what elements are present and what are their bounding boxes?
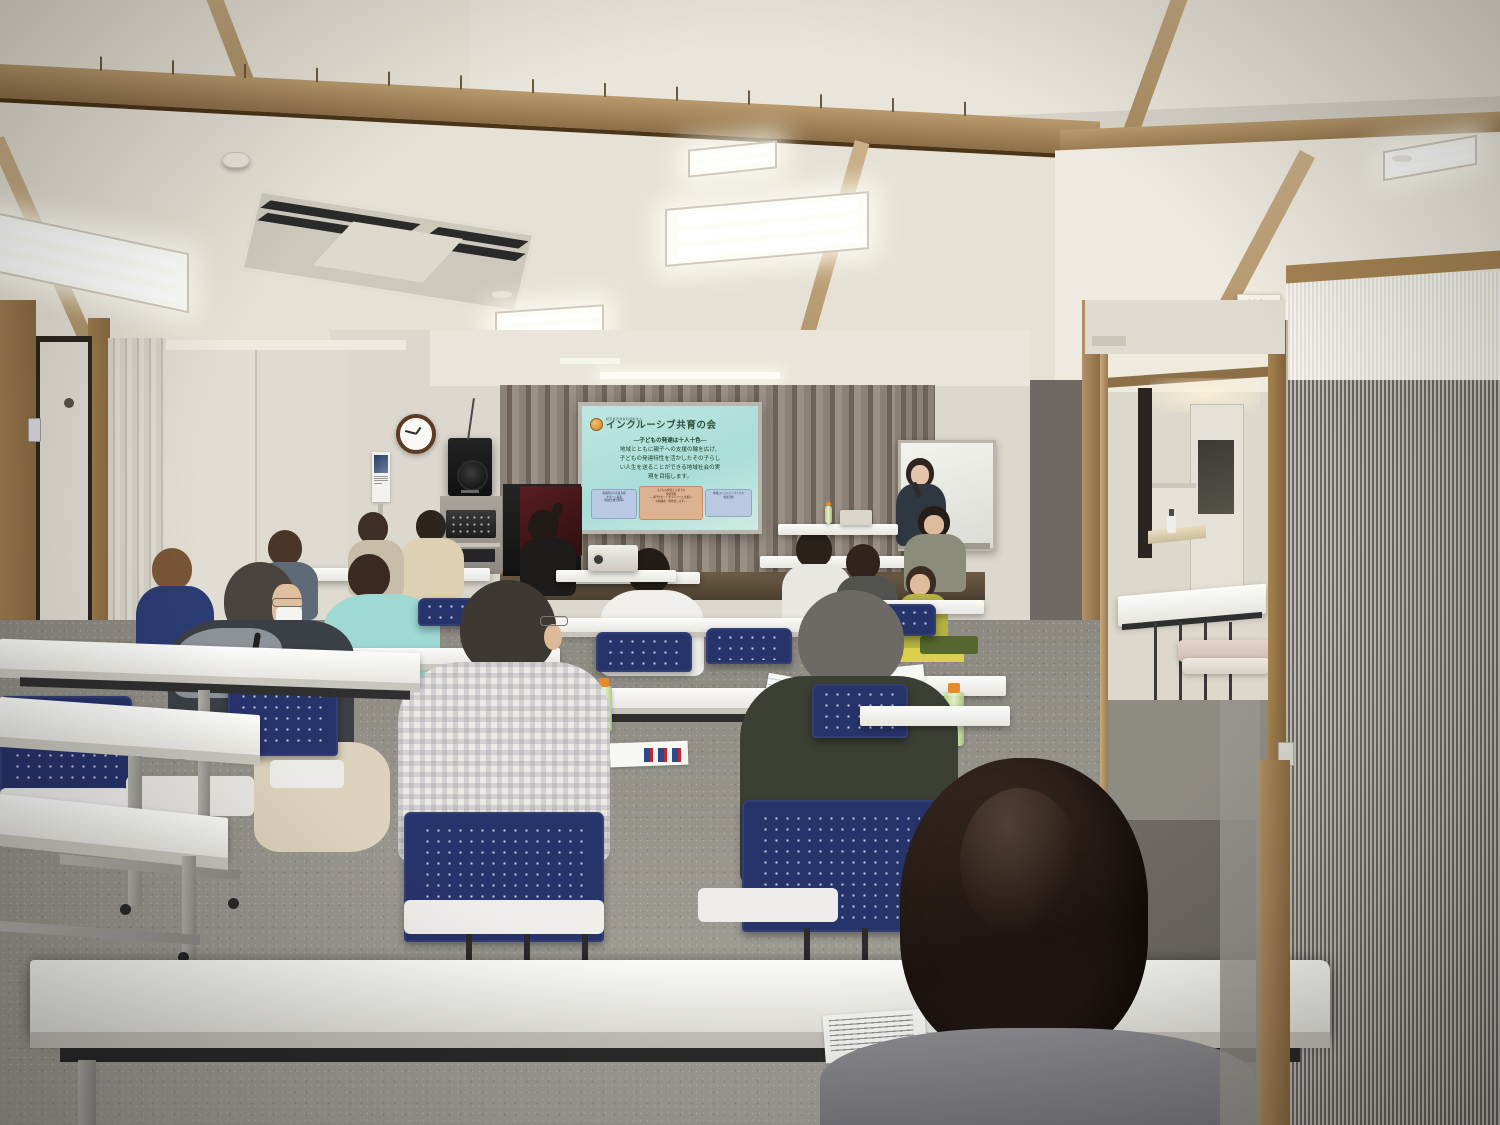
slide-box-2: 地域コミュニティづくりの 交流活動 xyxy=(705,489,752,517)
sanitizer-pump xyxy=(1169,509,1174,516)
head xyxy=(796,530,832,568)
presenter-laptop xyxy=(840,510,872,525)
door-peephole-icon xyxy=(64,398,74,408)
speaker-cone xyxy=(457,460,488,491)
presenter-table xyxy=(778,524,898,535)
head-skin xyxy=(814,600,888,660)
table-caster-2 xyxy=(120,904,131,915)
ceiling-smoke-detector xyxy=(222,152,250,168)
torso xyxy=(400,538,464,598)
entrance-door[interactable] xyxy=(40,342,88,664)
poster-image xyxy=(374,455,388,473)
slide-box-1: 子どもの発達と子育ての 啓発活動 ―専門サポートをメンバーと主催の 公開講座・研… xyxy=(639,486,703,520)
audio-mixer xyxy=(446,510,496,538)
face xyxy=(924,515,944,535)
slide-body-line-3: 現を目指します。 xyxy=(590,473,750,482)
right-door-jamb-foreground xyxy=(1256,760,1290,1125)
projector-lens-icon xyxy=(592,553,605,566)
slide-box-0: 発達障がい児者支援 サポート事業 （相談支援活動等） xyxy=(591,489,637,519)
stacked-floor-cushions-2 xyxy=(1182,658,1270,674)
green-floor-mat xyxy=(920,636,978,654)
bottle-cap xyxy=(826,502,831,506)
wall-poster xyxy=(372,452,390,502)
hair-highlight xyxy=(960,788,1080,938)
ear xyxy=(544,624,562,650)
bottle-cap-2 xyxy=(948,683,960,693)
right-room-door-glass xyxy=(1198,440,1234,514)
slide-headline: ―子どもの発達は十人十色― xyxy=(592,437,748,446)
ceiling-spot-light-2 xyxy=(1392,155,1412,162)
speaker-brand-label xyxy=(461,490,479,493)
projection-screen: 認定特定非営利活動法人 インクルーシブ共育の会 ―子どもの発達は十人十色― 地域… xyxy=(578,402,762,534)
right-jamb-shadow xyxy=(1220,700,1260,1125)
tea-bottle-presenter-table xyxy=(825,506,832,524)
seminar-room-photo: 認定特定非営利活動法人 インクルーシブ共育の会 ―子どもの発達は十人十色― 地域… xyxy=(0,0,1500,1125)
handout-graphic-1 xyxy=(644,748,686,762)
legs-beige-pants xyxy=(254,742,390,852)
ceiling-spot-light-1 xyxy=(492,291,512,298)
torso-grey-sweater xyxy=(820,1028,1256,1125)
table-left-3-leg xyxy=(182,856,196,966)
pa-speaker xyxy=(448,438,492,496)
slide-content: 認定特定非営利活動法人 インクルーシブ共育の会 ―子どもの発達は十人十色― 地域… xyxy=(582,406,758,530)
table-right-mid xyxy=(860,706,1010,726)
slide-body-line-2: い人生を送ることができる地域社会の実 xyxy=(590,464,750,473)
eyeglasses-icon xyxy=(540,616,568,626)
left-wooden-pillar xyxy=(0,300,36,660)
table-caster-1 xyxy=(228,898,239,909)
face xyxy=(910,574,930,595)
chair-seat-cover-2 xyxy=(698,888,838,922)
chair-seat-cover-1 xyxy=(404,900,604,934)
right-upper-wall-label xyxy=(1092,336,1126,346)
hand-sanitizer-bottle xyxy=(1167,515,1176,533)
head xyxy=(348,554,390,598)
door-card-reader[interactable] xyxy=(28,418,41,442)
analog-wall-clock xyxy=(396,414,436,454)
head xyxy=(846,544,880,580)
chair-mid-1 xyxy=(596,632,692,672)
ceiling-free-projector xyxy=(588,545,638,571)
eyeglasses-icon xyxy=(272,598,304,607)
clock-hand-minute xyxy=(405,430,416,434)
partition-top-rail xyxy=(166,340,406,350)
far-ceiling-light-strip-2 xyxy=(560,358,620,364)
far-ceiling-light-strip xyxy=(600,372,780,379)
projector-table xyxy=(556,570,676,582)
clock-hand-hour xyxy=(415,427,421,435)
right-room-frame-inner xyxy=(1100,330,1108,800)
organization-logo-icon xyxy=(590,418,603,431)
chair-mid-2 xyxy=(706,628,792,664)
foreground-table-leg-left xyxy=(78,1060,96,1125)
head xyxy=(152,548,192,590)
slide-header: 認定特定非営利活動法人 インクルーシブ共育の会 xyxy=(590,413,750,435)
chair-seat-cover-5 xyxy=(270,760,344,788)
head xyxy=(268,530,302,566)
slide-body-line-0: 地域とともに親子への支援の輪を広げ、 xyxy=(590,446,750,455)
slide-body-line-1: 子どもの発達特性を活かしたその子らし xyxy=(590,455,750,464)
slide-title: インクルーシブ共育の会 xyxy=(606,421,717,431)
